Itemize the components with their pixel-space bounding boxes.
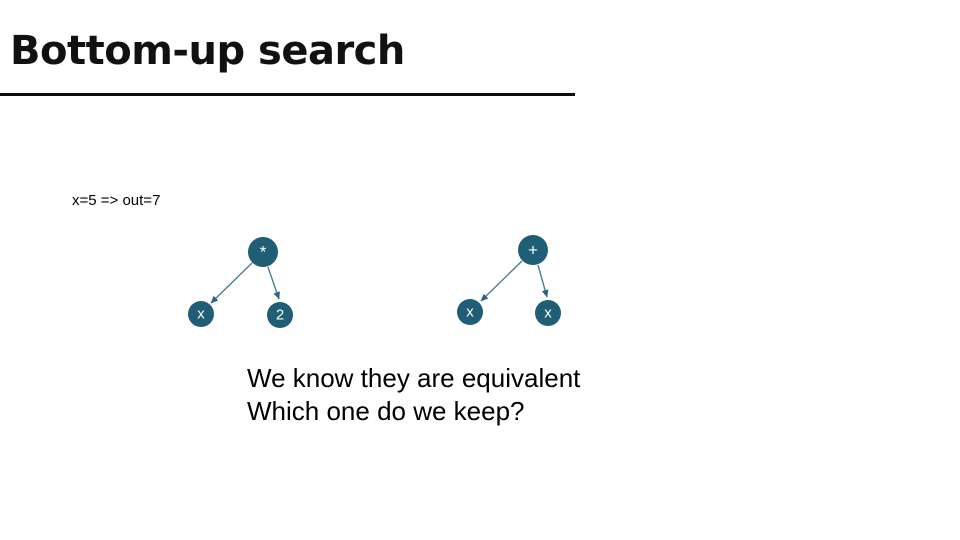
right-tree-nodes: + x x bbox=[457, 235, 561, 326]
tree-node-label: * bbox=[260, 243, 267, 262]
left-tree-edges bbox=[211, 263, 279, 303]
tree-node-label: + bbox=[528, 241, 538, 260]
right-tree-edges bbox=[481, 261, 547, 301]
tree-node-label: x bbox=[197, 306, 205, 323]
tree-node-mul[interactable]: * bbox=[248, 237, 278, 267]
body-text-line-1: We know they are equivalent bbox=[247, 362, 580, 395]
tree-node-label: 2 bbox=[276, 307, 284, 324]
tree-node-label: x bbox=[544, 305, 552, 322]
edge-add-to-x-left bbox=[481, 261, 522, 301]
left-tree-nodes: * x 2 bbox=[188, 237, 293, 328]
tree-node-label: x bbox=[466, 304, 474, 321]
tree-node-left-x[interactable]: x bbox=[188, 301, 214, 327]
body-text-line-2: Which one do we keep? bbox=[247, 395, 580, 428]
title-divider bbox=[0, 93, 575, 96]
edge-mul-to-2 bbox=[268, 267, 279, 299]
tree-node-right-x-right[interactable]: x bbox=[535, 300, 561, 326]
slide-canvas: Bottom-up search x=5 => out=7 * bbox=[0, 0, 960, 540]
tree-node-right-x-left[interactable]: x bbox=[457, 299, 483, 325]
edge-add-to-x-right bbox=[538, 265, 547, 297]
expression-trees-diagram: * x 2 + bbox=[0, 0, 960, 540]
trees-svg: * x 2 + bbox=[0, 0, 960, 540]
body-text-block: We know they are equivalent Which one do… bbox=[247, 362, 580, 428]
example-annotation: x=5 => out=7 bbox=[72, 192, 160, 209]
page-title: Bottom-up search bbox=[10, 27, 405, 75]
tree-node-left-two[interactable]: 2 bbox=[267, 302, 293, 328]
tree-node-add[interactable]: + bbox=[518, 235, 548, 265]
edge-mul-to-x bbox=[211, 263, 252, 303]
